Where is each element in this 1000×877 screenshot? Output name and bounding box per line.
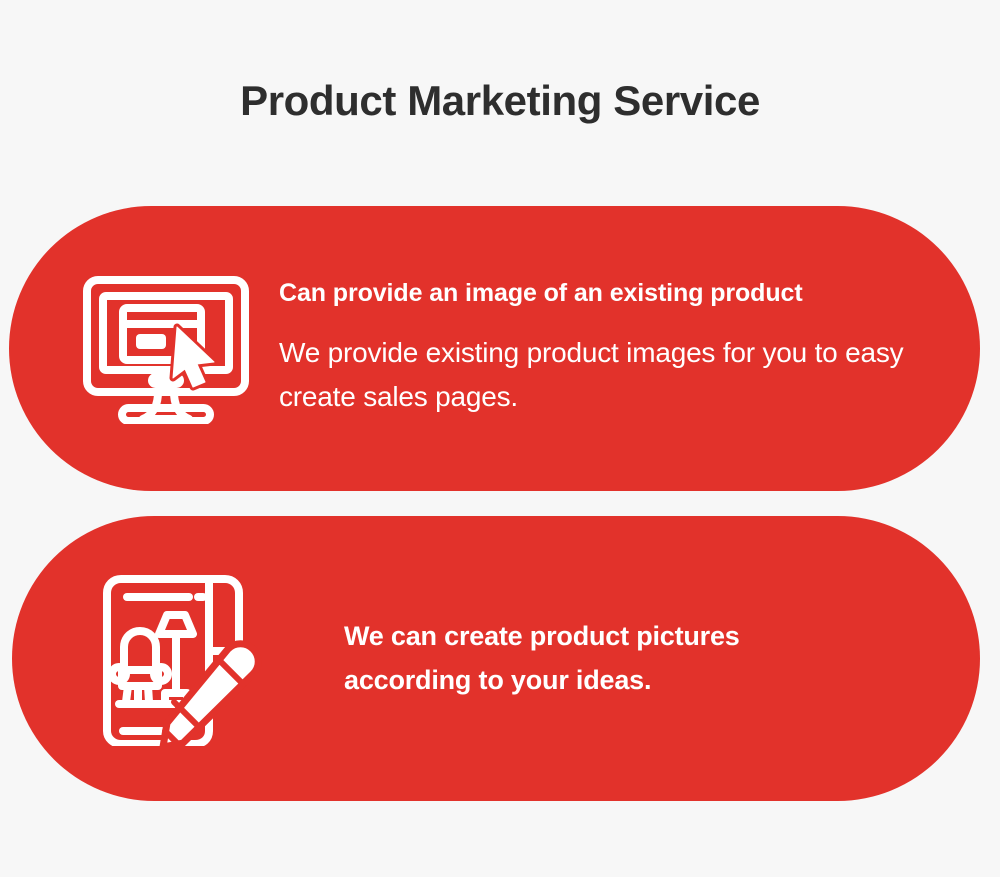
card-heading: Can provide an image of an existing prod… — [279, 278, 910, 309]
service-card-custom-pictures[interactable]: We can create product pictures according… — [12, 516, 980, 801]
service-card-existing-product[interactable]: Can provide an image of an existing prod… — [9, 206, 980, 491]
card-description: We provide existing product images for y… — [279, 331, 910, 419]
page-title: Product Marketing Service — [0, 77, 1000, 125]
card-description: We can create product pictures according… — [344, 615, 864, 702]
monitor-screen-cursor-icon — [71, 274, 261, 424]
card-body: Can provide an image of an existing prod… — [261, 278, 980, 420]
sketch-paper-pencil-icon — [84, 571, 274, 746]
card-body: We can create product pictures according… — [274, 615, 980, 702]
